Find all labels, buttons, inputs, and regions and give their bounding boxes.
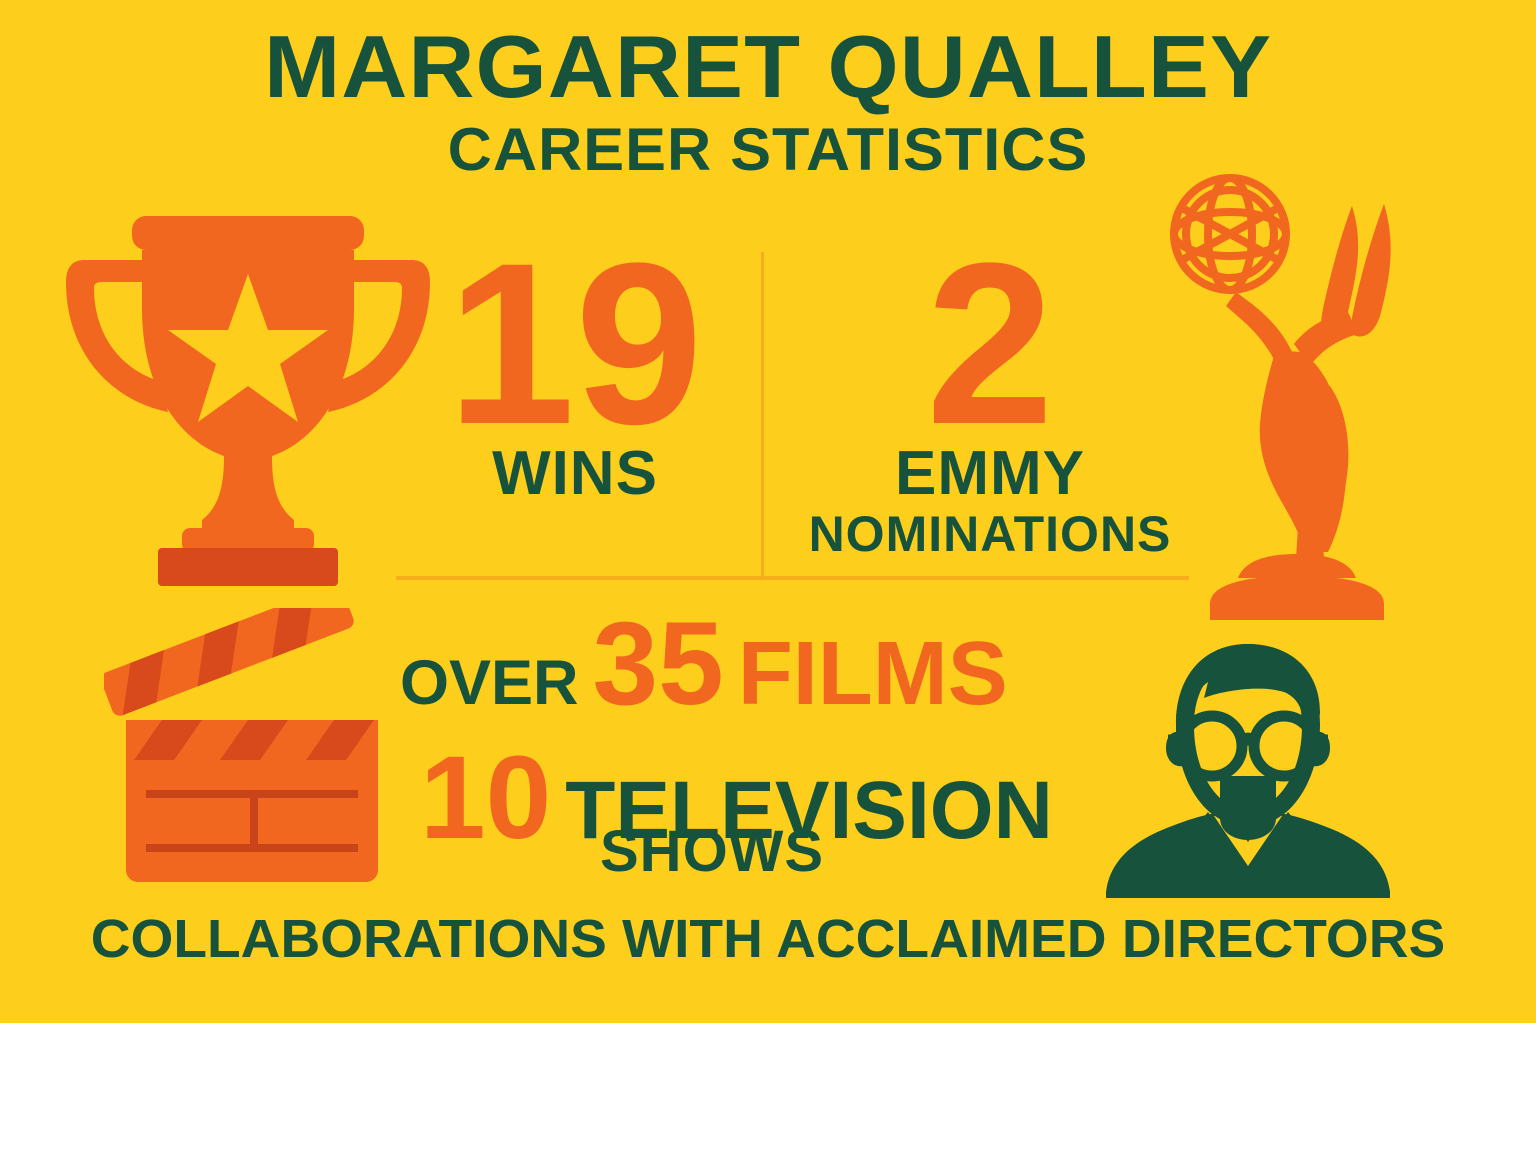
title-block: MARGARET QUALLEY CAREER STATISTICS (0, 22, 1536, 181)
stat-television-number: 10 (420, 748, 551, 848)
stat-films: OVER 35 FILMS (400, 614, 1008, 726)
emmy-statuette-icon (1152, 172, 1442, 622)
infographic-poster: MARGARET QUALLEY CAREER STATISTICS (0, 0, 1536, 1023)
director-person-icon (1098, 636, 1398, 902)
stat-emmy-number: 2 (790, 250, 1190, 439)
clapperboard-icon (104, 608, 398, 904)
trophy-icon (62, 212, 434, 592)
stat-films-prefix: OVER (400, 647, 579, 719)
stat-wins: 19 WINS (400, 250, 750, 505)
page-title: MARGARET QUALLEY (0, 22, 1536, 112)
stat-emmy-label: EMMY (790, 443, 1190, 505)
horizontal-divider (396, 576, 1189, 580)
vertical-divider (761, 252, 764, 579)
footer-caption: COLLABORATIONS WITH ACCLAIMED DIRECTORS (0, 908, 1536, 970)
stat-emmy-nominations: 2 EMMY NOMINATIONS (790, 250, 1190, 559)
stat-television-sublabel: SHOWS (600, 818, 824, 885)
stat-films-label: FILMS (738, 623, 1008, 726)
stat-films-number: 35 (593, 614, 724, 714)
stat-emmy-sublabel: NOMINATIONS (790, 509, 1190, 559)
stat-wins-number: 19 (400, 250, 750, 439)
